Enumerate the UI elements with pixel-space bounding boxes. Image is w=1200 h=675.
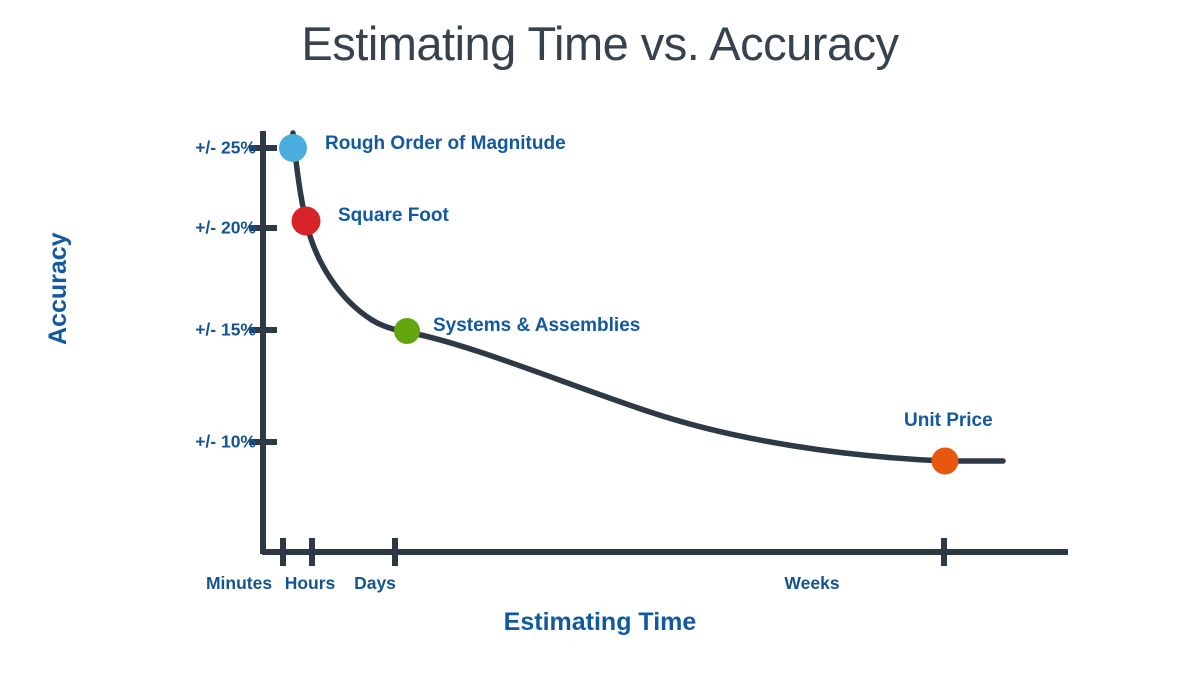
x-tick-label-hours: Hours (285, 573, 336, 594)
data-point-unit-price[interactable] (932, 448, 959, 475)
data-point-label-systems-and-assemblies: Systems & Assemblies (433, 315, 640, 337)
x-tick-label-weeks: Weeks (784, 573, 839, 594)
data-point-label-rough-order-of-magnitude: Rough Order of Magnitude (325, 133, 566, 155)
data-point-label-unit-price: Unit Price (904, 410, 993, 432)
y-tick-label-25: +/- 25% (195, 138, 256, 159)
x-tick-label-minutes: Minutes (206, 573, 272, 594)
plot-area (0, 0, 1200, 675)
x-axis-title: Estimating Time (0, 608, 1200, 637)
accuracy-curve (293, 133, 1003, 461)
y-tick-label-15: +/- 15% (195, 320, 256, 341)
data-point-systems-and-assemblies[interactable] (394, 318, 420, 344)
chart-container: Estimating Time vs. Accuracy +/- 25% +/-… (0, 0, 1200, 675)
data-point-label-square-foot: Square Foot (338, 205, 449, 227)
data-point-rough-order-of-magnitude[interactable] (279, 134, 307, 162)
y-axis-title: Accuracy (44, 232, 73, 345)
x-tick-label-days: Days (354, 573, 396, 594)
y-tick-label-20: +/- 20% (195, 218, 256, 239)
data-point-square-foot[interactable] (292, 207, 321, 236)
y-tick-label-10: +/- 10% (195, 432, 256, 453)
